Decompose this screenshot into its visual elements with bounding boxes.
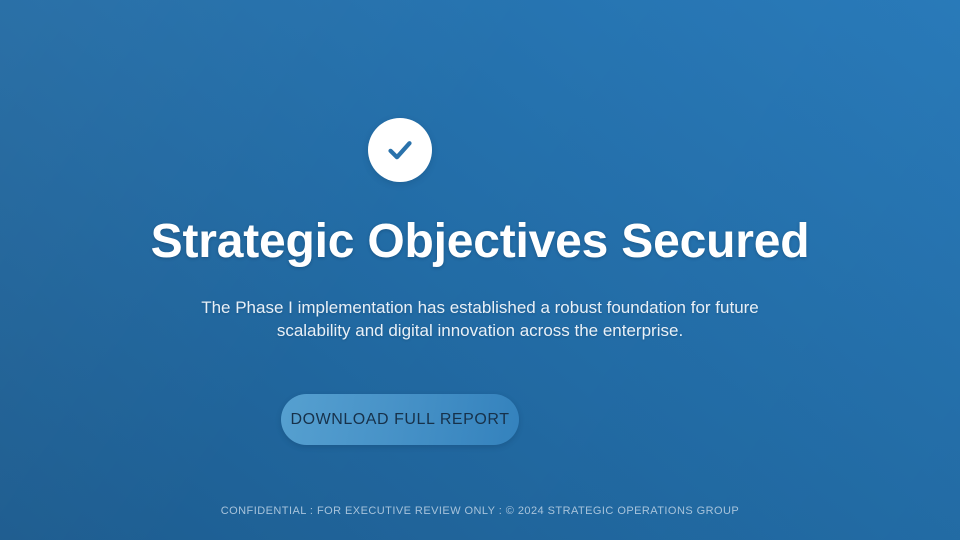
success-badge (368, 118, 432, 182)
subtitle-text: The Phase I implementation has establish… (180, 297, 780, 342)
check-icon (383, 133, 417, 167)
success-slide: Strategic Objectives Secured The Phase I… (0, 0, 960, 540)
confidentiality-footer: CONFIDENTIAL : FOR EXECUTIVE REVIEW ONLY… (0, 504, 960, 519)
page-title: Strategic Objectives Secured (0, 212, 960, 272)
slide-content: Strategic Objectives Secured The Phase I… (0, 0, 960, 540)
download-full-report-button[interactable]: DOWNLOAD FULL REPORT (281, 394, 519, 445)
